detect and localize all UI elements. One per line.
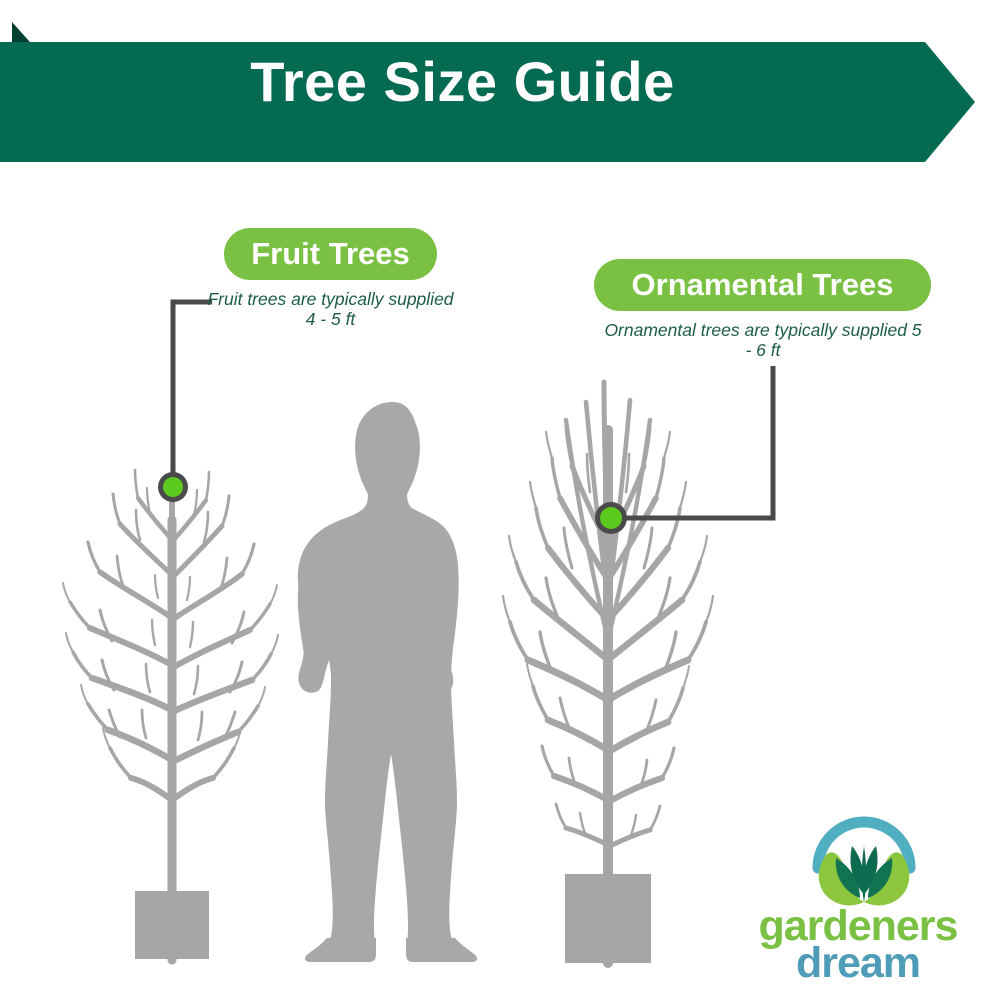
tree-size-guide-infographic: Tree Size Guide xyxy=(0,0,1000,1000)
fruit-tree xyxy=(63,470,278,960)
caption-ornamental-trees: Ornamental trees are typically supplied … xyxy=(604,321,922,360)
ornamental-tree xyxy=(503,382,713,963)
ornamental-tree-marker-dot xyxy=(595,502,627,534)
fruit-tree-leader-line xyxy=(173,302,212,487)
badge-ornamental-trees[interactable]: Ornamental Trees xyxy=(594,259,931,311)
caption-fruit-trees: Fruit trees are typically supplied 4 - 5… xyxy=(203,290,458,329)
badge-fruit-trees[interactable]: Fruit Trees xyxy=(224,228,437,280)
logo-emblem-icon xyxy=(808,806,920,912)
logo-wordmark: gardeners dream xyxy=(742,908,974,982)
person-silhouette xyxy=(298,402,477,962)
logo-word-dream: dream xyxy=(742,945,974,982)
ornamental-tree-pot xyxy=(565,874,651,963)
fruit-tree-marker-dot xyxy=(158,472,188,502)
fruit-tree-pot xyxy=(135,891,209,959)
